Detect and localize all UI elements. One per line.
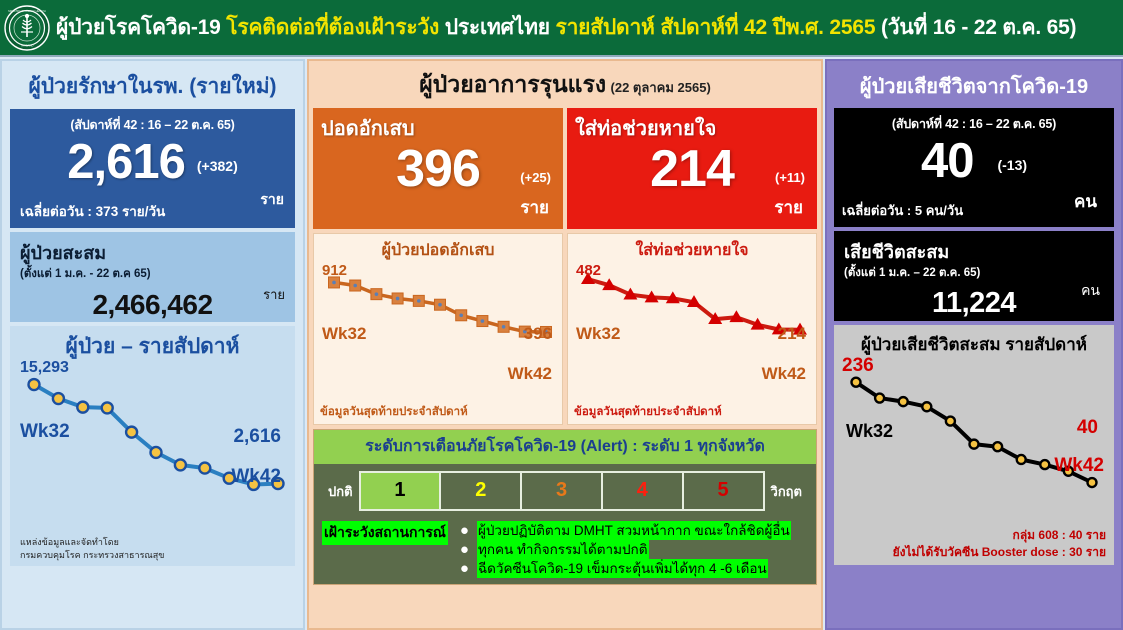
alert-headline: ระดับการเตือนภัยโรคโควิด-19 (Alert) : ระ… bbox=[314, 430, 816, 464]
chart-marker bbox=[199, 463, 210, 474]
kpi-intubation-unit: ราย bbox=[774, 194, 803, 221]
alert-watch-tag: เฝ้าระวังสถานการณ์ bbox=[322, 521, 448, 545]
right-chart-end-label: Wk42 bbox=[1054, 455, 1104, 477]
chart-card-pneumonia: ผู้ป่วยปอดอักเสบ 912 Wk32 396 Wk42 ข้อมู… bbox=[313, 233, 563, 425]
svg-text:THAILAND: THAILAND bbox=[21, 43, 34, 47]
alert-bullet-3: ฉีดวัคซีนโควิด-19 เข็มกระตุ้นเพิ่มได้ทุก… bbox=[477, 559, 768, 578]
kpi-intubation-value: 214 bbox=[575, 140, 809, 198]
chart-marker bbox=[946, 417, 955, 426]
chart-marker-center-dot bbox=[396, 297, 400, 301]
alert-level-1[interactable]: 1 bbox=[361, 473, 442, 509]
right-cumulative-label: เสียชีวิตสะสม bbox=[844, 237, 1104, 266]
alert-level-3[interactable]: 3 bbox=[522, 473, 603, 509]
chart-marker-center-dot bbox=[438, 303, 442, 307]
alert-body: ปกติ 1 2 3 4 5 วิกฤต เฝ้าระวังสถานการณ์ … bbox=[314, 464, 816, 584]
right-kpi-value: 40 bbox=[921, 135, 974, 187]
chart-marker bbox=[875, 394, 884, 403]
intubation-chart-end-label: Wk42 bbox=[762, 364, 806, 384]
right-foot-line-2: ยังไม่ได้รับวัคซีน Booster dose : 30 ราย bbox=[893, 544, 1106, 561]
left-chart-end-label: Wk42 bbox=[231, 466, 281, 488]
kpi-pneumonia-unit: ราย bbox=[520, 194, 549, 221]
left-cumulative-value: 2,466,462 bbox=[20, 289, 285, 321]
pneumonia-chart-start-label: Wk32 bbox=[322, 324, 366, 344]
source-line-2: กรมควบคุมโรค กระทรวงสาธารณสุข bbox=[20, 549, 164, 562]
alert-level-boxes: 1 2 3 4 5 bbox=[359, 471, 765, 511]
dashboard-root: MINISTRY OF PUBLIC HEALTH THAILAND ผู้ป่… bbox=[0, 0, 1123, 630]
chart-marker-center-dot bbox=[502, 325, 506, 329]
chart-marker-center-dot bbox=[375, 292, 379, 296]
right-kpi-average: เฉลี่ยต่อวัน : 5 คน/วัน bbox=[842, 200, 963, 221]
chart-marker bbox=[151, 447, 162, 458]
pneumonia-chart-end-label: Wk42 bbox=[508, 364, 552, 384]
left-kpi-period: (สัปดาห์ที่ 42 : 16 – 22 ต.ค. 65) bbox=[18, 115, 287, 135]
title-part-diseases: ผู้ป่วยโรคโควิด-19 bbox=[56, 16, 226, 39]
right-cumulative-unit: คน bbox=[1081, 280, 1100, 302]
mid-kpi-row: ปอดอักเสบ 396 (+25) ราย ใส่ท่อช่วยหายใจ … bbox=[309, 108, 821, 229]
left-panel-title: ผู้ป่วยรักษาในรพ. (รายใหม่) bbox=[10, 67, 295, 109]
title-part-week: รายสัปดาห์ สัปดาห์ที่ 42 ปีพ.ศ. 2565 bbox=[555, 16, 880, 39]
pneumonia-chart-max-label: 912 bbox=[322, 262, 347, 279]
chart-marker bbox=[126, 427, 137, 438]
left-kpi-average: เฉลี่ยต่อวัน : 373 ราย/วัน bbox=[20, 200, 165, 222]
chart-marker bbox=[1017, 455, 1026, 464]
left-cumulative-card: ผู้ป่วยสะสม (ตั้งแต่ 1 ม.ค. - 22 ต.ค 65)… bbox=[10, 232, 295, 322]
chart-marker bbox=[922, 402, 931, 411]
panel-severe-cases: ผู้ป่วยอาการรุนแรง (22 ตุลาคม 2565) ปอดอ… bbox=[307, 59, 823, 630]
alert-bullet-list: ●ผู้ป่วยปฏิบัติตาม DMHT สวมหน้ากาก ขณะใก… bbox=[460, 521, 791, 578]
alert-bullet-2: ทุกคน ทำกิจกรรมได้ตามปกติ bbox=[477, 540, 649, 559]
list-item: ●ทุกคน ทำกิจกรรมได้ตามปกติ bbox=[460, 540, 791, 559]
left-cumulative-period: (ตั้งแต่ 1 ม.ค. - 22 ต.ค 65) bbox=[20, 265, 285, 283]
mid-chart-row: ผู้ป่วยปอดอักเสบ 912 Wk32 396 Wk42 ข้อมู… bbox=[309, 229, 821, 425]
bullet-dot-icon: ● bbox=[460, 540, 469, 559]
pneumonia-chart-footnote: ข้อมูลวันสุดท้ายประจำสัปดาห์ bbox=[320, 403, 468, 421]
right-foot-line-1: กลุ่ม 608 : 40 ราย bbox=[893, 527, 1106, 544]
right-panel-title: ผู้ป่วยเสียชีวิตจากโควิด-19 bbox=[834, 67, 1114, 108]
right-chart-last-value-label: 40 bbox=[1077, 417, 1098, 439]
alert-scale-left-label: ปกติ bbox=[322, 471, 359, 511]
right-chart-max-label: 236 bbox=[842, 355, 874, 377]
alert-guidance: เฝ้าระวังสถานการณ์ ●ผู้ป่วยปฏิบัติตาม DM… bbox=[322, 521, 808, 578]
title-part-country: ประเทศไทย bbox=[445, 16, 556, 39]
left-cumulative-unit: ราย bbox=[263, 284, 285, 305]
right-kpi-period: (สัปดาห์ที่ 42 : 16 – 22 ต.ค. 65) bbox=[842, 114, 1106, 134]
right-weekly-chart-card: ผู้ป่วยเสียชีวิตสะสม รายสัปดาห์ 236 Wk32… bbox=[834, 325, 1114, 565]
chart-marker bbox=[175, 459, 186, 470]
panel-deaths: ผู้ป่วยเสียชีวิตจากโควิด-19 (สัปดาห์ที่ … bbox=[825, 59, 1123, 630]
right-kpi-delta: (-13) bbox=[997, 157, 1027, 173]
mid-title-date: (22 ตุลาคม 2565) bbox=[611, 80, 711, 95]
left-kpi-delta: (+382) bbox=[197, 158, 238, 174]
chart-marker bbox=[53, 393, 64, 404]
intubation-chart-last-value-label: 214 bbox=[778, 324, 806, 344]
alert-scale-right-label: วิกฤต bbox=[765, 471, 808, 511]
intubation-chart-max-label: 482 bbox=[576, 262, 601, 279]
svg-text:MINISTRY OF PUBLIC HEALTH: MINISTRY OF PUBLIC HEALTH bbox=[8, 9, 46, 13]
alert-level-section: ระดับการเตือนภัยโรคโควิด-19 (Alert) : ระ… bbox=[313, 429, 817, 585]
kpi-card-pneumonia: ปอดอักเสบ 396 (+25) ราย bbox=[313, 108, 563, 229]
bullet-dot-icon: ● bbox=[460, 559, 469, 578]
right-chart-start-label: Wk32 bbox=[846, 421, 893, 442]
chart-marker bbox=[970, 440, 979, 449]
intubation-chart-start-label: Wk32 bbox=[576, 324, 620, 344]
chart-marker bbox=[29, 379, 40, 390]
chart-card-intubation: ใส่ท่อช่วยหายใจ 482 Wk32 214 Wk42 ข้อมูล… bbox=[567, 233, 817, 425]
bullet-dot-icon: ● bbox=[460, 521, 469, 540]
left-weekly-chart-card: ผู้ป่วย – รายสัปดาห์ 15,293 Wk32 2,616 W… bbox=[10, 326, 295, 566]
kpi-card-intubation: ใส่ท่อช่วยหายใจ 214 (+11) ราย bbox=[567, 108, 817, 229]
kpi-intubation-delta: (+11) bbox=[775, 170, 805, 185]
chart-marker bbox=[1040, 460, 1049, 469]
mid-panel-title: ผู้ป่วยอาการรุนแรง (22 ตุลาคม 2565) bbox=[309, 61, 821, 108]
alert-scale: ปกติ 1 2 3 4 5 วิกฤต bbox=[322, 471, 808, 511]
left-cumulative-label: ผู้ป่วยสะสม bbox=[20, 238, 285, 267]
page-header: MINISTRY OF PUBLIC HEALTH THAILAND ผู้ป่… bbox=[0, 0, 1123, 57]
chart-marker bbox=[77, 402, 88, 413]
kpi-pneumonia-delta: (+25) bbox=[520, 170, 551, 185]
chart-marker-center-dot bbox=[481, 319, 485, 323]
left-chart-last-value-label: 2,616 bbox=[233, 426, 281, 448]
panel-hospitalized-cases: ผู้ป่วยรักษาในรพ. (รายใหม่) (สัปดาห์ที่ … bbox=[0, 59, 305, 630]
source-line-1: แหล่งข้อมูลและจัดทำโดย bbox=[20, 536, 164, 549]
intubation-chart-footnote: ข้อมูลวันสุดท้ายประจำสัปดาห์ bbox=[574, 403, 722, 421]
ministry-of-public-health-emblem-icon: MINISTRY OF PUBLIC HEALTH THAILAND bbox=[4, 5, 50, 51]
right-cumulative-period: (ตั้งแต่ 1 ม.ค. – 22 ต.ค. 65) bbox=[844, 264, 1104, 282]
left-kpi-value: 2,616 bbox=[67, 136, 185, 188]
right-kpi-card: (สัปดาห์ที่ 42 : 16 – 22 ต.ค. 65) 40 (-1… bbox=[834, 108, 1114, 227]
chart-marker-center-dot bbox=[417, 299, 421, 303]
chart-marker-center-dot bbox=[353, 284, 357, 288]
list-item: ●ผู้ป่วยปฏิบัติตาม DMHT สวมหน้ากาก ขณะใก… bbox=[460, 521, 791, 540]
page-title: ผู้ป่วยโรคโควิด-19 โรคติดต่อที่ต้องเฝ้าร… bbox=[56, 11, 1076, 44]
right-chart-footnotes: กลุ่ม 608 : 40 ราย ยังไม่ได้รับวัคซีน Bo… bbox=[893, 527, 1106, 561]
pneumonia-chart-last-value-label: 396 bbox=[524, 324, 552, 344]
chart-marker bbox=[899, 397, 908, 406]
left-chart-max-label: 15,293 bbox=[20, 359, 69, 377]
right-kpi-unit: คน bbox=[1074, 188, 1097, 215]
chart-marker bbox=[993, 442, 1002, 451]
title-part-daterange: (วันที่ 16 - 22 ต.ค. 65) bbox=[881, 16, 1076, 39]
chart-marker-center-dot bbox=[459, 313, 463, 317]
right-cumulative-card: เสียชีวิตสะสม (ตั้งแต่ 1 ม.ค. – 22 ต.ค. … bbox=[834, 231, 1114, 321]
source-credit: แหล่งข้อมูลและจัดทำโดย กรมควบคุมโรค กระท… bbox=[20, 536, 164, 562]
list-item: ●ฉีดวัคซีนโควิด-19 เข็มกระตุ้นเพิ่มได้ทุ… bbox=[460, 559, 791, 578]
chart-marker bbox=[852, 378, 861, 387]
chart-marker-center-dot bbox=[332, 281, 336, 285]
left-chart-start-label: Wk32 bbox=[20, 421, 70, 443]
left-kpi-card: (สัปดาห์ที่ 42 : 16 – 22 ต.ค. 65) 2,616 … bbox=[10, 109, 295, 228]
alert-bullet-1: ผู้ป่วยปฏิบัติตาม DMHT สวมหน้ากาก ขณะใกล… bbox=[477, 521, 791, 540]
title-part-surveillance: โรคติดต่อที่ต้องเฝ้าระวัง bbox=[226, 16, 444, 39]
alert-level-2[interactable]: 2 bbox=[441, 473, 522, 509]
right-cumulative-value: 11,224 bbox=[844, 287, 1104, 320]
kpi-pneumonia-value: 396 bbox=[321, 140, 555, 198]
alert-level-4[interactable]: 4 bbox=[603, 473, 684, 509]
chart-marker bbox=[102, 402, 113, 413]
left-kpi-unit: ราย bbox=[260, 189, 284, 211]
alert-level-5[interactable]: 5 bbox=[684, 473, 763, 509]
mid-title-text: ผู้ป่วยอาการรุนแรง bbox=[419, 71, 606, 97]
chart-marker bbox=[1088, 478, 1097, 487]
